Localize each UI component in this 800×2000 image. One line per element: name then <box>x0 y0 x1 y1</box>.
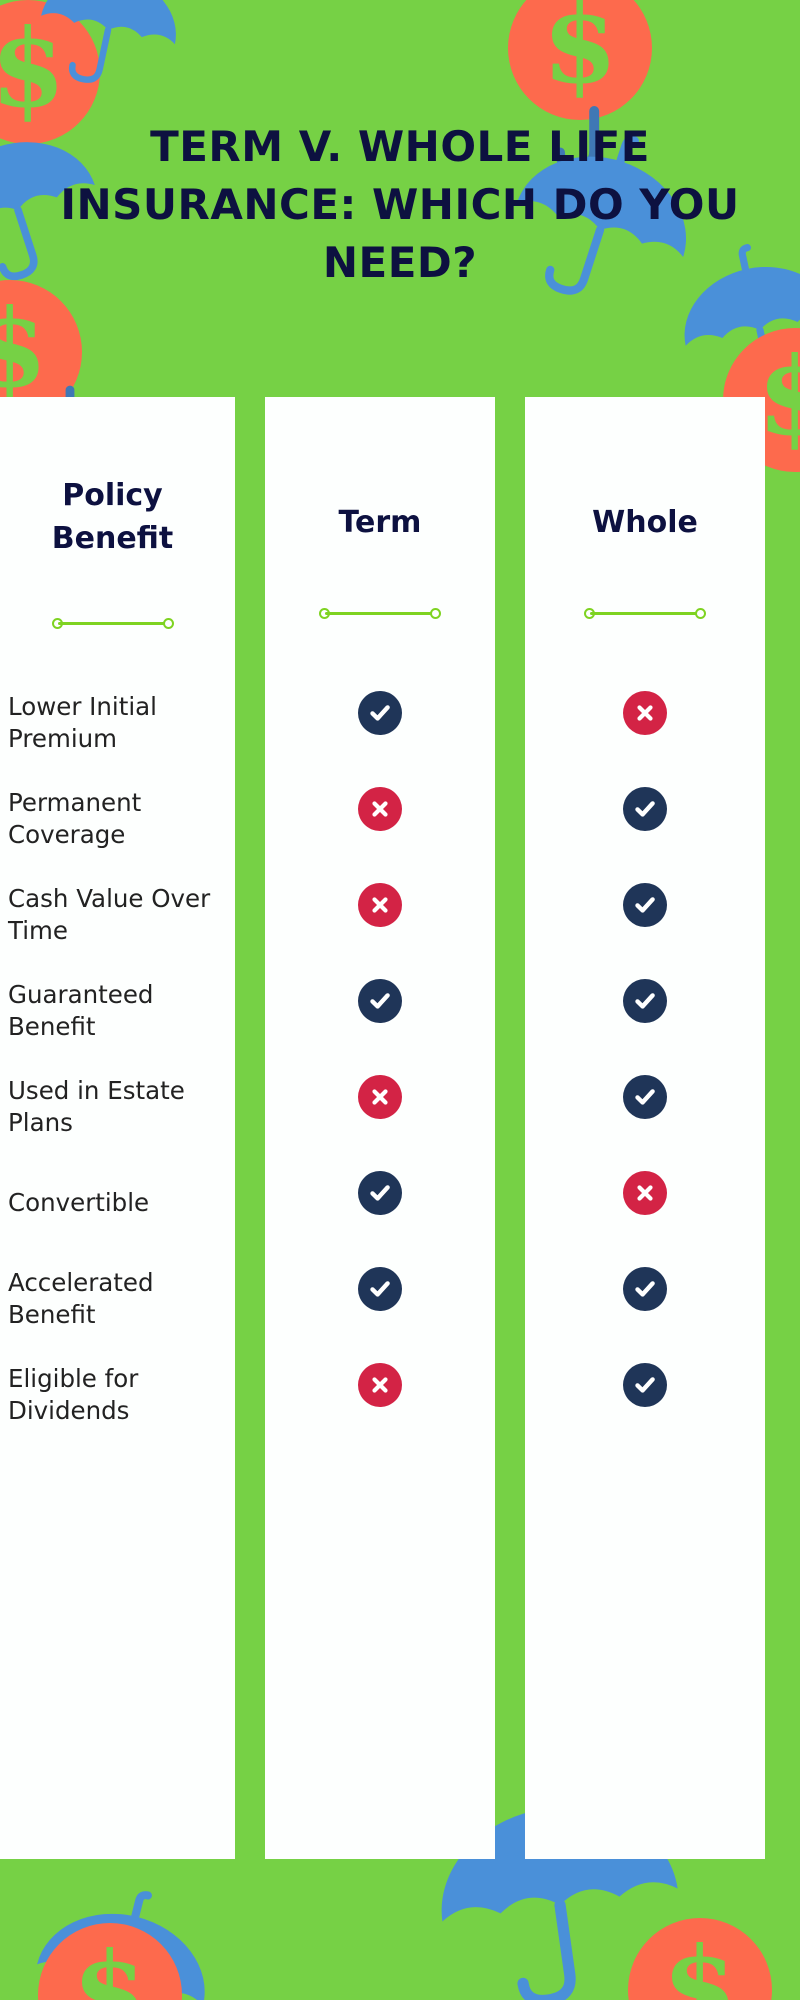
x-circle-icon <box>623 691 667 735</box>
whole-mark-list <box>525 665 765 1433</box>
benefit-label: Convertible <box>8 1187 149 1220</box>
table-row <box>525 761 765 857</box>
divider-ring-right-icon <box>695 608 706 619</box>
column-policy-benefit: Policy Benefit Lower Initial PremiumPerm… <box>0 397 235 1859</box>
benefit-label: Cash Value Over Time <box>8 883 217 948</box>
check-circle-icon <box>358 979 402 1023</box>
benefit-label: Permanent Coverage <box>8 787 217 852</box>
check-circle-icon <box>623 883 667 927</box>
check-circle-icon <box>623 1267 667 1311</box>
divider-benefit <box>52 617 174 631</box>
column-header-term: Term <box>265 397 495 545</box>
page-title: TERM V. WHOLE LIFE INSURANCE: WHICH DO Y… <box>34 118 766 292</box>
table-row <box>265 665 495 761</box>
divider-bar <box>325 612 435 615</box>
table-row: Accelerated Benefit <box>8 1251 217 1347</box>
column-whole: Whole <box>525 397 765 1859</box>
divider-whole <box>584 607 706 621</box>
x-circle-icon <box>358 1075 402 1119</box>
divider-ring-right-icon <box>163 618 174 629</box>
table-row <box>265 1049 495 1145</box>
table-row: Used in Estate Plans <box>8 1059 217 1155</box>
table-row <box>265 1241 495 1337</box>
table-row <box>525 1241 765 1337</box>
comparison-table: Policy Benefit Lower Initial PremiumPerm… <box>0 397 800 1859</box>
column-header-whole: Whole <box>525 397 765 545</box>
table-row: Convertible <box>8 1155 217 1251</box>
table-row: Lower Initial Premium <box>8 675 217 771</box>
benefit-label: Used in Estate Plans <box>8 1075 217 1140</box>
divider-bar <box>58 622 168 625</box>
table-row <box>525 1049 765 1145</box>
divider-term <box>319 607 441 621</box>
table-row <box>525 665 765 761</box>
column-term: Term <box>265 397 495 1859</box>
table-row: Permanent Coverage <box>8 771 217 867</box>
check-circle-icon <box>623 1075 667 1119</box>
table-row <box>265 761 495 857</box>
benefit-label: Eligible for Dividends <box>8 1363 217 1428</box>
benefit-label: Accelerated Benefit <box>8 1267 217 1332</box>
table-row <box>525 857 765 953</box>
divider-ring-right-icon <box>430 608 441 619</box>
term-mark-list <box>265 665 495 1433</box>
benefit-label-list: Lower Initial PremiumPermanent CoverageC… <box>8 675 217 1443</box>
title-block: TERM V. WHOLE LIFE INSURANCE: WHICH DO Y… <box>0 118 800 292</box>
table-row <box>525 1337 765 1433</box>
check-circle-icon <box>623 787 667 831</box>
x-circle-icon <box>358 787 402 831</box>
column-header-benefit: Policy Benefit <box>8 397 217 560</box>
check-circle-icon <box>623 979 667 1023</box>
table-row <box>525 953 765 1049</box>
x-circle-icon <box>623 1171 667 1215</box>
table-row <box>265 857 495 953</box>
table-row <box>265 1145 495 1241</box>
table-row <box>265 953 495 1049</box>
x-circle-icon <box>358 883 402 927</box>
table-row <box>265 1337 495 1433</box>
table-row: Cash Value Over Time <box>8 867 217 963</box>
check-circle-icon <box>358 691 402 735</box>
check-circle-icon <box>358 1171 402 1215</box>
check-circle-icon <box>623 1363 667 1407</box>
table-row <box>525 1145 765 1241</box>
divider-bar <box>590 612 700 615</box>
benefit-label: Lower Initial Premium <box>8 691 217 756</box>
benefit-label: Guaranteed Benefit <box>8 979 217 1044</box>
x-circle-icon <box>358 1363 402 1407</box>
table-row: Eligible for Dividends <box>8 1347 217 1443</box>
table-row: Guaranteed Benefit <box>8 963 217 1059</box>
check-circle-icon <box>358 1267 402 1311</box>
